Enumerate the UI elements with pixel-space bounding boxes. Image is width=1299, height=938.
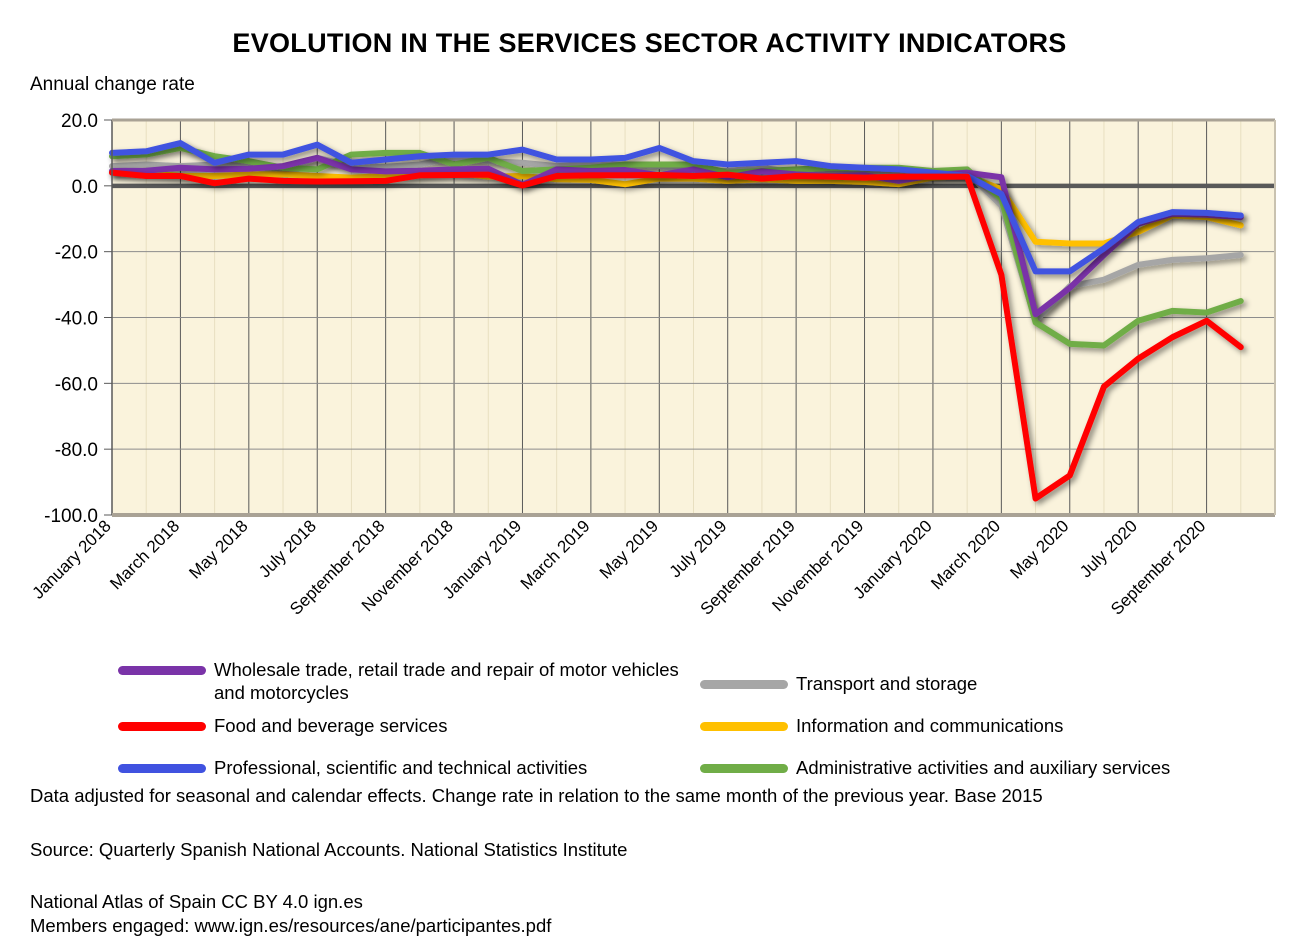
legend-column-left: Wholesale trade, retail trade and repair… xyxy=(118,655,698,795)
svg-text:May 2019: May 2019 xyxy=(596,516,662,582)
legend-swatch-icon xyxy=(700,680,788,689)
legend-column-right: Transport and storage Information and co… xyxy=(700,655,1290,795)
footnote-members: Members engaged: www.ign.es/resources/an… xyxy=(30,914,1280,938)
legend-item[interactable]: Information and communications xyxy=(700,711,1290,749)
svg-text:-80.0: -80.0 xyxy=(55,440,98,461)
legend-item[interactable]: Food and beverage services xyxy=(118,711,698,749)
svg-text:20.0: 20.0 xyxy=(61,111,98,132)
legend-label: Transport and storage xyxy=(796,655,977,695)
legend-swatch-icon xyxy=(700,764,788,773)
svg-text:July 2018: July 2018 xyxy=(255,516,320,581)
legend-label: Professional, scientific and technical a… xyxy=(214,753,587,779)
legend-swatch-icon xyxy=(118,722,206,731)
line-chart-svg: 20.00.0-20.0-40.0-60.0-80.0-100.0 Januar… xyxy=(0,0,1299,660)
legend-label: Administrative activities and auxiliary … xyxy=(796,753,1170,779)
footnote-source: Source: Quarterly Spanish National Accou… xyxy=(30,838,1280,862)
svg-text:March 2018: March 2018 xyxy=(106,516,183,593)
legend-swatch-icon xyxy=(700,722,788,731)
legend-item[interactable]: Transport and storage xyxy=(700,655,1290,707)
y-axis-ticks: 20.00.0-20.0-40.0-60.0-80.0-100.0 xyxy=(44,111,98,527)
svg-text:January 2018: January 2018 xyxy=(29,516,115,602)
svg-text:March 2020: March 2020 xyxy=(927,516,1004,593)
svg-text:-40.0: -40.0 xyxy=(55,309,98,330)
footnotes: Data adjusted for seasonal and calendar … xyxy=(30,784,1280,938)
legend-item[interactable]: Wholesale trade, retail trade and repair… xyxy=(118,655,698,707)
svg-text:May 2020: May 2020 xyxy=(1006,516,1072,582)
svg-text:July 2020: July 2020 xyxy=(1076,516,1141,581)
svg-text:-100.0: -100.0 xyxy=(44,506,98,527)
legend-label: Information and communications xyxy=(796,711,1063,737)
legend-swatch-icon xyxy=(118,666,206,675)
x-axis-ticks: January 2018March 2018May 2018July 2018S… xyxy=(29,516,1210,618)
legend-label: Wholesale trade, retail trade and repair… xyxy=(214,655,698,704)
svg-text:-20.0: -20.0 xyxy=(55,243,98,264)
chart-legend: Wholesale trade, retail trade and repair… xyxy=(0,655,1299,780)
legend-swatch-icon xyxy=(118,764,206,773)
svg-text:-60.0: -60.0 xyxy=(55,374,98,395)
svg-text:0.0: 0.0 xyxy=(72,177,98,198)
svg-text:July 2019: July 2019 xyxy=(666,516,731,581)
footnote-note: Data adjusted for seasonal and calendar … xyxy=(30,784,1280,808)
legend-label: Food and beverage services xyxy=(214,711,447,737)
svg-text:March 2019: March 2019 xyxy=(517,516,594,593)
svg-text:May 2018: May 2018 xyxy=(185,516,251,582)
footnote-atlas: National Atlas of Spain CC BY 4.0 ign.es xyxy=(30,890,1280,914)
